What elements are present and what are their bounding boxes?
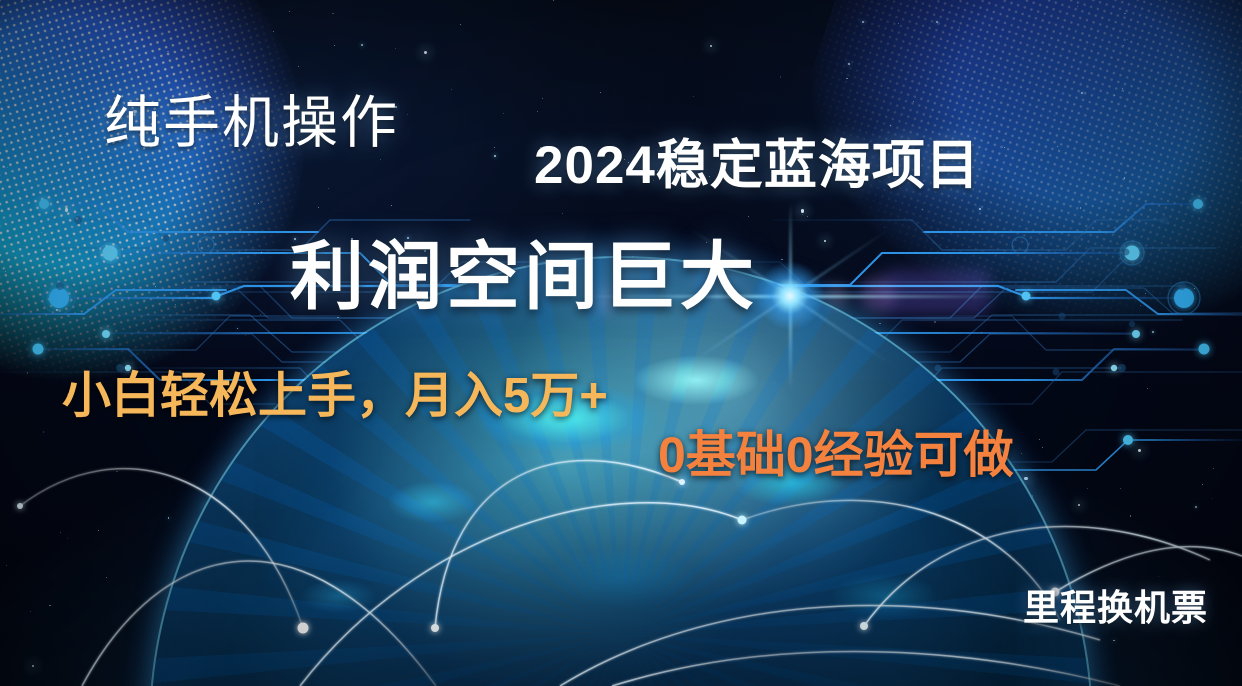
star (67, 538, 68, 539)
star (1158, 576, 1159, 577)
star (542, 98, 543, 99)
star (537, 111, 538, 112)
star (98, 530, 99, 531)
star (710, 45, 712, 47)
headline-profit-main: 利润空间巨大 (290, 240, 758, 314)
star (553, 0, 554, 1)
star (494, 147, 495, 148)
star (1138, 449, 1141, 452)
star (1120, 488, 1121, 489)
star (600, 92, 601, 93)
star (503, 113, 504, 114)
star (451, 89, 452, 90)
star (1195, 506, 1197, 508)
star (1213, 468, 1214, 469)
star (693, 96, 694, 97)
star (6, 565, 7, 566)
star (460, 24, 461, 25)
headline-miles-tickets: 里程换机票 (1023, 590, 1208, 626)
star (60, 532, 61, 533)
star (32, 665, 34, 667)
star (780, 76, 781, 77)
star (1130, 515, 1131, 516)
headline-pure-mobile: 纯手机操作 (104, 95, 399, 152)
star (49, 605, 50, 606)
promo-banner: 纯手机操作 2024稳定蓝海项目 利润空间巨大 小白轻松上手，月入5万+ 0基础… (0, 0, 1242, 686)
star (1211, 498, 1212, 499)
headline-zero-base: 0基础0经验可做 (658, 430, 1014, 480)
headline-easy-income: 小白轻松上手，月入5万+ (62, 372, 608, 421)
flare-ghost-2 (884, 270, 990, 314)
star (494, 155, 496, 157)
flare-ghost-3 (826, 284, 848, 306)
headline-year-project: 2024稳定蓝海项目 (534, 139, 980, 192)
flare-core (756, 262, 824, 330)
star (30, 611, 31, 612)
star (1202, 484, 1203, 485)
star (116, 471, 117, 472)
